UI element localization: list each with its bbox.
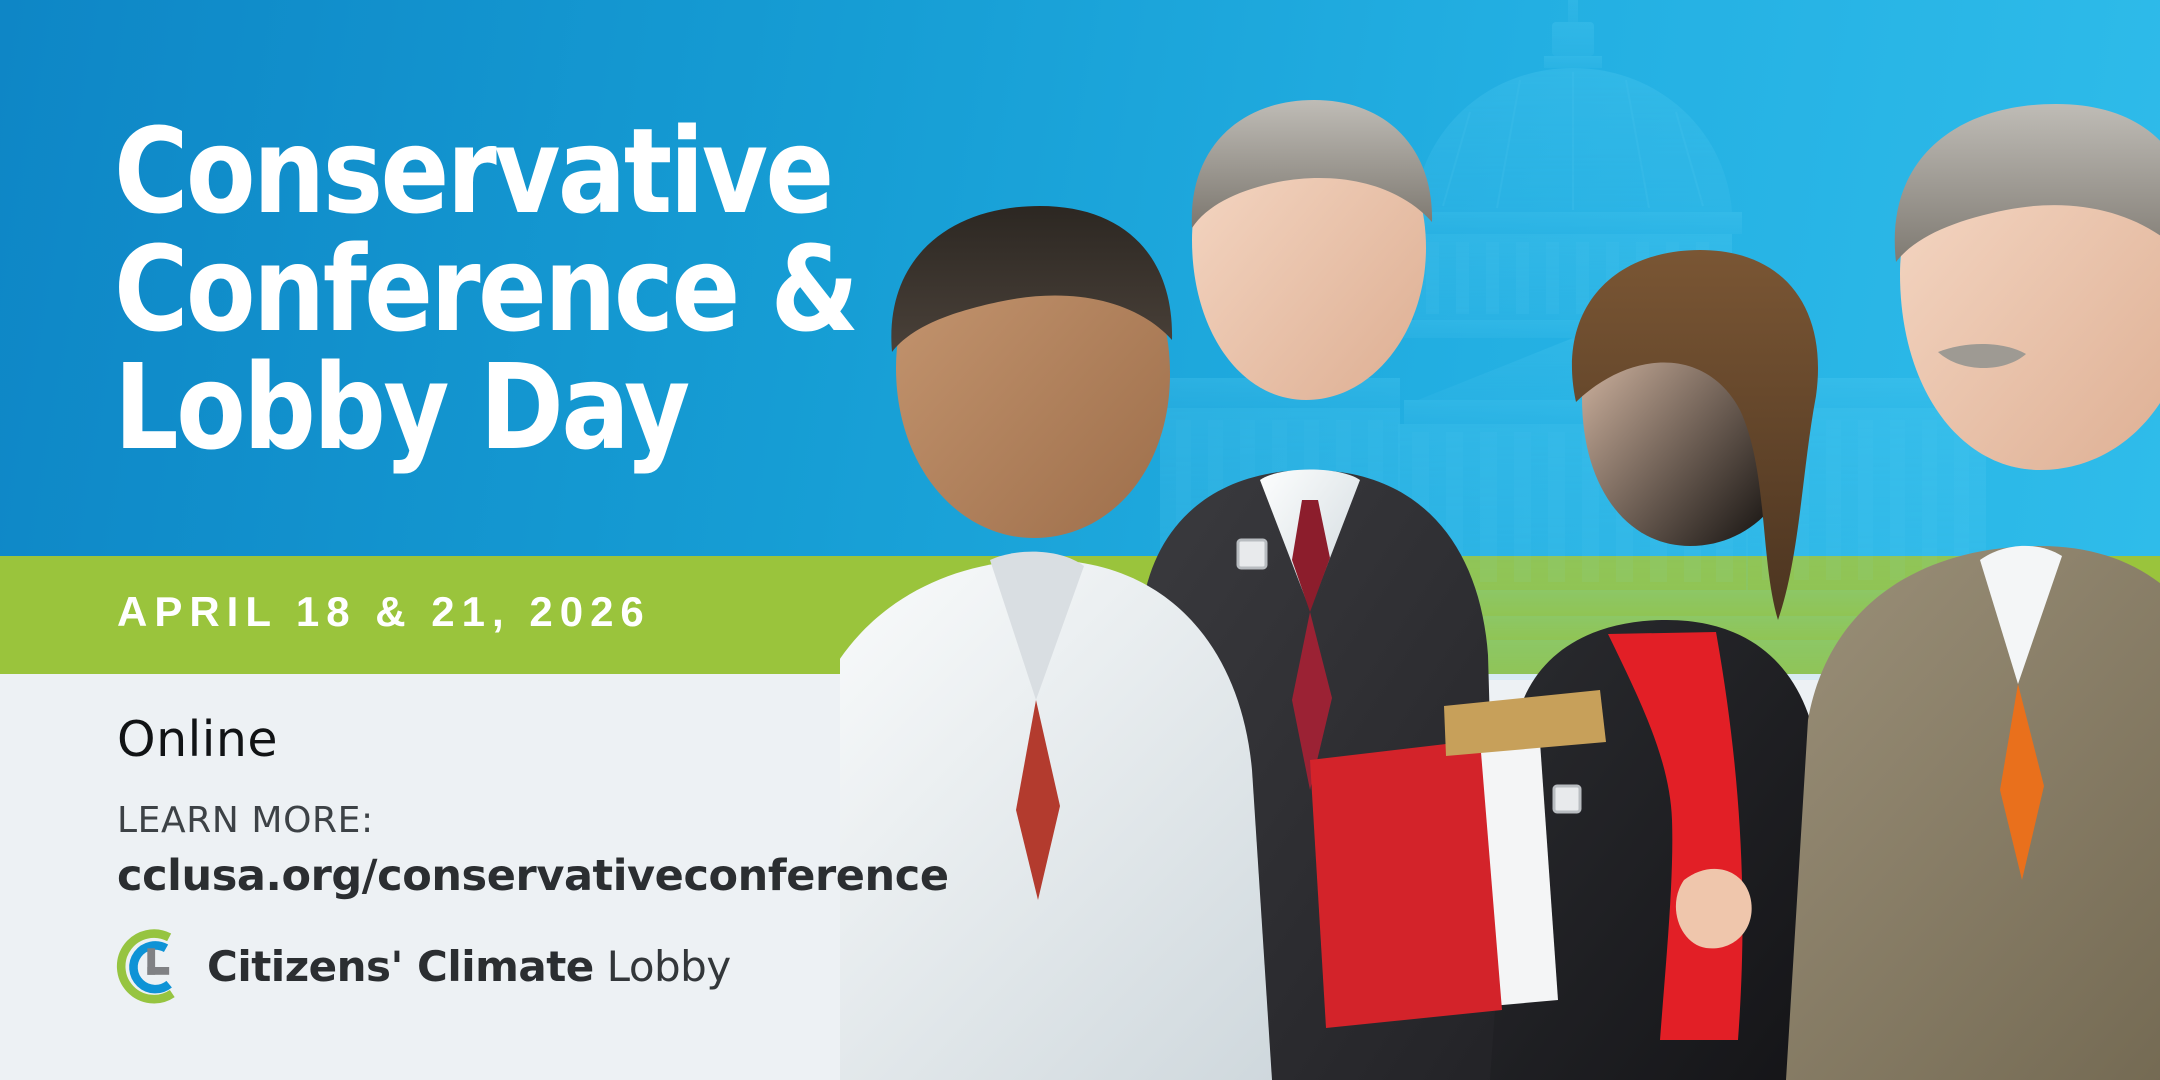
ccl-wordmark-light: Lobby: [607, 942, 731, 991]
event-venue: Online: [117, 712, 278, 768]
event-url[interactable]: cclusa.org/conservativeconference: [117, 850, 949, 902]
ccl-arc-logo-icon: [113, 928, 191, 1006]
ccl-logo[interactable]: Citizens' Climate Lobby: [113, 928, 731, 1006]
ccl-wordmark-bold: Citizens' Climate: [207, 942, 594, 991]
learn-more-label: LEARN MORE:: [117, 800, 374, 842]
ccl-wordmark: Citizens' Climate Lobby: [207, 943, 731, 991]
event-promo-banner: Conservative Conference & Lobby Day APRI…: [0, 0, 2160, 1080]
event-date: APRIL 18 & 21, 2026: [117, 586, 651, 638]
page-title: Conservative Conference & Lobby Day: [114, 112, 1249, 466]
